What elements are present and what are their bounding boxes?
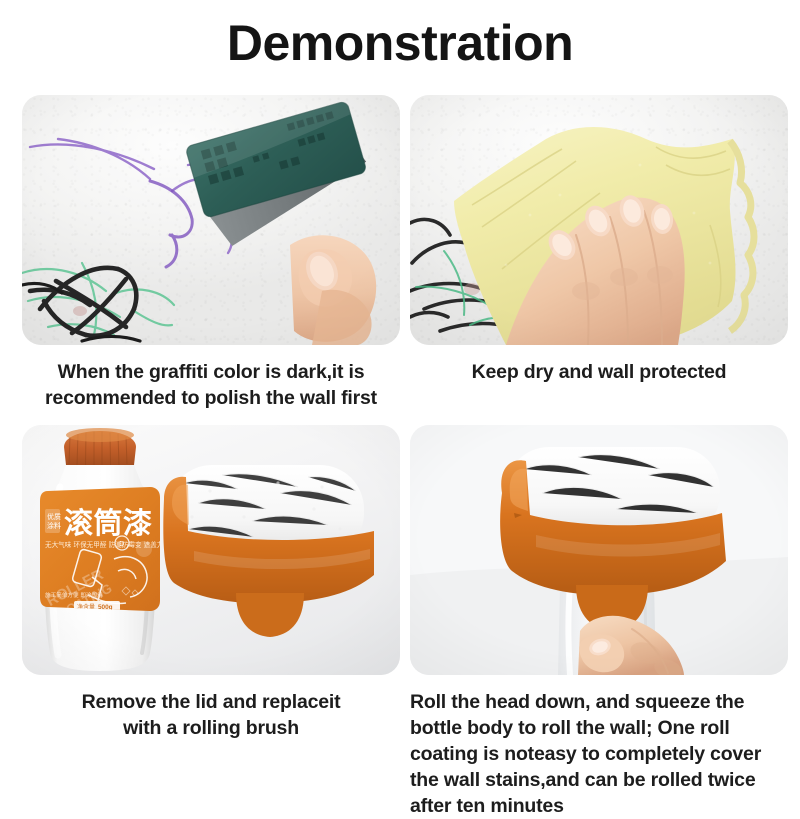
panel-image-replace-lid: 滚筒漆 优质 涂料 无大气味 环保无甲醛 防潮防霉变 遮盖力强 ROLLER C… — [22, 425, 400, 675]
caption-line: recommended to polish the wall first — [22, 385, 400, 411]
bottle-label: 滚筒漆 优质 涂料 无大气味 环保无甲醛 防潮防霉变 遮盖力强 ROLLER C… — [36, 483, 170, 623]
bottle-and-roller-illustration: 滚筒漆 优质 涂料 无大气味 环保无甲醛 防潮防霉变 遮盖力强 ROLLER C… — [22, 425, 400, 675]
rolling-on-wall-illustration — [410, 425, 788, 675]
label-title: 滚筒漆 — [64, 506, 153, 540]
panel-replace-lid: 滚筒漆 优质 涂料 无大气味 环保无甲醛 防潮防霉变 遮盖力强 ROLLER C… — [22, 425, 400, 741]
caption-line: When the graffiti color is dark,it is — [22, 359, 400, 385]
caption-line: with a rolling brush — [22, 715, 400, 741]
page-title: Demonstration — [0, 12, 800, 74]
panel-caption-replace-lid: Remove the lid and replaceit with a roll… — [22, 689, 400, 741]
label-footer-note: 施工简单方便 即涂即用 — [45, 591, 103, 599]
panel-caption-polish-wall: When the graffiti color is dark,it is re… — [22, 359, 400, 411]
label-brand-tag: 优质 — [47, 512, 61, 521]
svg-text:D: D — [119, 541, 124, 548]
caption-line: the wall stains,and can be rolled twice — [410, 767, 788, 793]
panel-polish-wall: When the graffiti color is dark,it is re… — [22, 95, 400, 411]
demonstration-infographic: Demonstration — [0, 0, 800, 800]
panel-roll-the-wall: Roll the head down, and squeeze the bott… — [410, 425, 788, 819]
caption-line: Remove the lid and replaceit — [22, 689, 400, 715]
hand-wiping-with-cloth-illustration — [410, 95, 788, 345]
caption-line: Roll the head down, and squeeze the — [410, 689, 788, 715]
panel-image-keep-dry — [410, 95, 788, 345]
caption-line: coating is noteasy to completely cover — [410, 741, 788, 767]
graffiti-and-sanding-block-illustration — [22, 95, 400, 345]
caption-line: Keep dry and wall protected — [410, 359, 788, 385]
paint-bottle: 滚筒漆 优质 涂料 无大气味 环保无甲醛 防潮防霉变 遮盖力强 ROLLER C… — [36, 428, 170, 671]
panel-caption-keep-dry: Keep dry and wall protected — [410, 359, 788, 385]
hand — [290, 235, 376, 345]
roller-head — [163, 465, 374, 637]
caption-line: after ten minutes — [410, 793, 788, 819]
panel-grid: When the graffiti color is dark,it is re… — [0, 95, 800, 800]
caption-line: bottle body to roll the wall; One roll — [410, 715, 788, 741]
panel-image-polish-wall — [22, 95, 400, 345]
svg-text:涂料: 涂料 — [47, 521, 61, 530]
panel-image-roll-the-wall — [410, 425, 788, 675]
panel-keep-dry: Keep dry and wall protected — [410, 95, 788, 385]
